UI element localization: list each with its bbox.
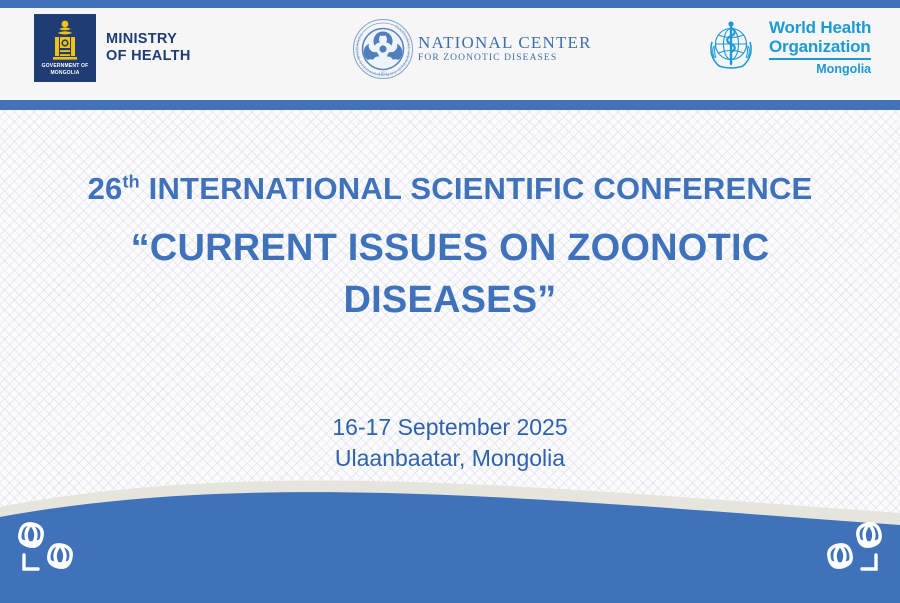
national-center-name: NATIONAL CENTER FOR ZOONOTIC DISEASES bbox=[418, 33, 592, 65]
edition-ordinal: th bbox=[122, 172, 139, 192]
mongolian-knot-ornament-right bbox=[806, 515, 886, 581]
zoonotic-seal-icon: NATIONAL CENTER FOR ZOONOTIC DISEASES 19… bbox=[352, 18, 414, 80]
national-center-name-line2: FOR ZOONOTIC DISEASES bbox=[418, 52, 592, 65]
who-divider bbox=[769, 58, 871, 60]
slide-body: 26th INTERNATIONAL SCIENTIFIC CONFERENCE… bbox=[0, 110, 900, 603]
mongolia-state-emblem-icon: GOVERNMENT OF MONGOLIA bbox=[34, 14, 96, 82]
conference-title-slide: GOVERNMENT OF MONGOLIA MINISTRY OF HEALT… bbox=[0, 0, 900, 603]
conference-edition-title: 26th INTERNATIONAL SCIENTIFIC CONFERENCE bbox=[0, 170, 900, 208]
national-center-logo: NATIONAL CENTER FOR ZOONOTIC DISEASES 19… bbox=[352, 18, 592, 80]
edition-number: 26 bbox=[88, 171, 123, 206]
mongolian-knot-ornament-left bbox=[14, 515, 94, 581]
header-separator-bar bbox=[0, 100, 900, 110]
ministry-name: MINISTRY OF HEALTH bbox=[106, 31, 191, 65]
conference-title-rest: INTERNATIONAL SCIENTIFIC CONFERENCE bbox=[140, 171, 813, 206]
seal-year: 1951 bbox=[379, 71, 388, 76]
top-accent-bar bbox=[0, 0, 900, 8]
title-block: 26th INTERNATIONAL SCIENTIFIC CONFERENCE… bbox=[0, 170, 900, 326]
soyombo-icon bbox=[45, 18, 85, 64]
ministry-name-line1: MINISTRY bbox=[106, 31, 191, 48]
who-emblem-icon bbox=[700, 18, 762, 76]
who-country-label: Mongolia bbox=[769, 62, 871, 76]
ministry-name-line2: OF HEALTH bbox=[106, 48, 191, 65]
emblem-caption-line1: GOVERNMENT OF bbox=[42, 63, 89, 69]
who-name-block: World Health Organization Mongolia bbox=[769, 18, 871, 76]
who-name-line1: World Health bbox=[769, 18, 871, 37]
event-date: 16-17 September 2025 bbox=[0, 412, 900, 443]
who-name-line2: Organization bbox=[769, 37, 871, 56]
page-title: “CURRENT ISSUES ON ZOONOTIC DISEASES” bbox=[0, 222, 900, 326]
ministry-of-health-logo: GOVERNMENT OF MONGOLIA MINISTRY OF HEALT… bbox=[34, 14, 191, 82]
emblem-caption-line2: MONGOLIA bbox=[50, 70, 79, 76]
who-logo: World Health Organization Mongolia bbox=[700, 18, 871, 76]
bottom-wave-decoration bbox=[0, 463, 900, 603]
national-center-name-line1: NATIONAL CENTER bbox=[418, 33, 592, 52]
emblem-caption: GOVERNMENT OF MONGOLIA bbox=[34, 63, 96, 77]
